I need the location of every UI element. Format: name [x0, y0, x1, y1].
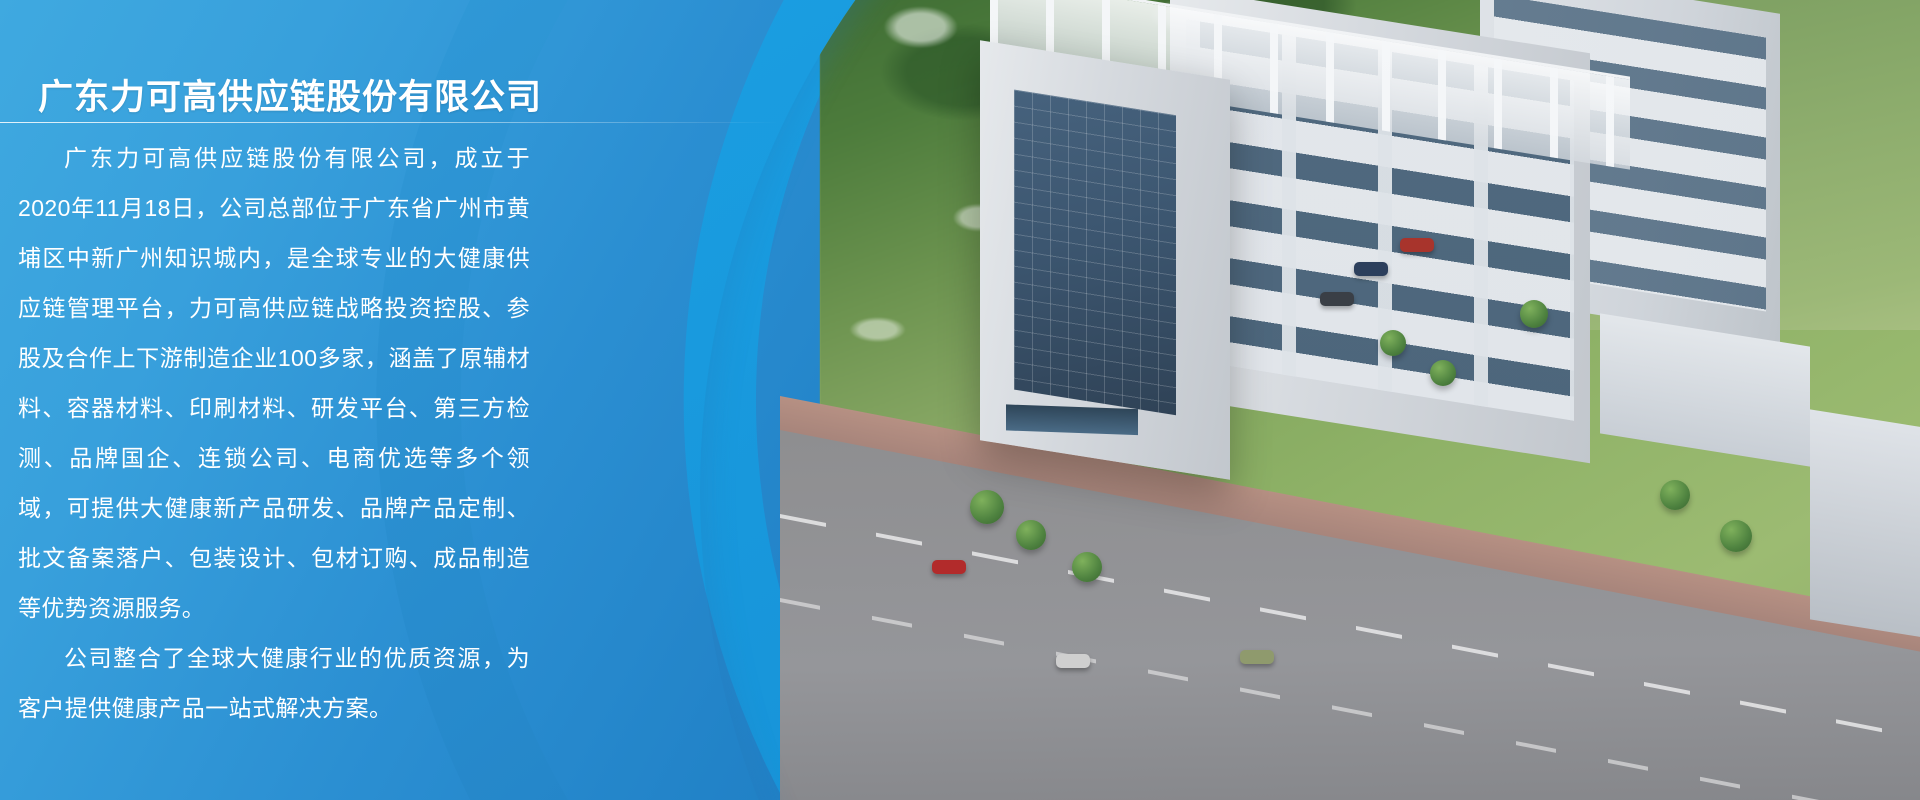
company-description: 广东力可高供应链股份有限公司，成立于2020年11月18日，公司总部位于广东省广…: [18, 133, 530, 733]
campus-photo: [700, 0, 1920, 800]
page-title: 广东力可高供应链股份有限公司: [38, 77, 542, 119]
title-divider: [0, 122, 780, 123]
paragraph-1: 广东力可高供应链股份有限公司，成立于2020年11月18日，公司总部位于广东省广…: [18, 133, 530, 633]
main-office-tower: [980, 40, 1230, 480]
paragraph-2: 公司整合了全球大健康行业的优质资源，为客户提供健康产品一站式解决方案。: [18, 633, 530, 733]
text-column: 广东力可高供应链股份有限公司 广东力可高供应链股份有限公司，成立于2020年11…: [0, 0, 560, 800]
company-profile-banner: 广东力可高供应链股份有限公司 广东力可高供应链股份有限公司，成立于2020年11…: [0, 0, 1920, 800]
